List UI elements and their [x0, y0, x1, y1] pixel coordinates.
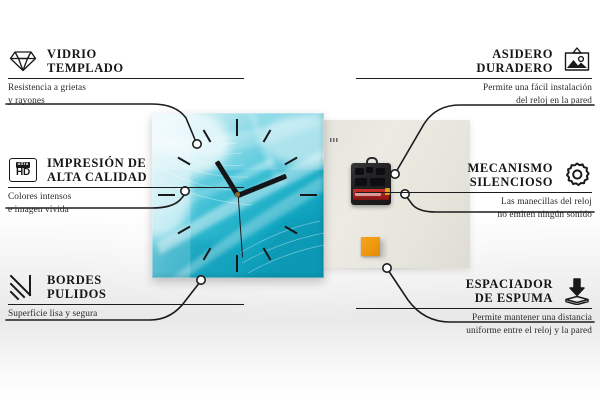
diamond-icon — [8, 46, 38, 76]
feature-title-line1: VIDRIO — [47, 47, 97, 61]
feature-title: MECANISMO SILENCIOSO — [467, 161, 553, 190]
feature-mecanismo-silencioso[interactable]: MECANISMO SILENCIOSO Las manecillas del … — [356, 160, 592, 221]
feature-desc-line1: Permite una fácil instalación — [483, 83, 592, 93]
hd-badge: ultra HD — [9, 158, 37, 182]
gear-icon — [562, 160, 592, 190]
feature-title-line1: ASIDERO — [492, 47, 553, 61]
feature-title-line2: DURADERO — [476, 61, 553, 75]
feature-title-line1: IMPRESIÓN DE — [47, 156, 146, 170]
feature-divider — [356, 192, 592, 193]
feature-bordes-pulidos[interactable]: BORDES PULIDOS Superficie lisa y segura — [8, 272, 244, 321]
feature-divider — [8, 187, 244, 188]
feature-header: VIDRIO TEMPLADO — [8, 46, 244, 78]
feature-desc-line2: del reloj en la pared — [516, 96, 592, 106]
feature-title-line2: TEMPLADO — [47, 61, 124, 75]
feature-title: ESPACIADOR DE ESPUMA — [466, 277, 553, 306]
feature-title-line2: ALTA CALIDAD — [47, 170, 147, 184]
feature-desc-line1: Permite mantener una distancia — [472, 313, 592, 323]
feature-vidrio-templado[interactable]: VIDRIO TEMPLADO Resistencia a grietas y … — [8, 46, 244, 107]
feature-title-line1: ESPACIADOR — [466, 277, 553, 291]
polished-edges-icon — [8, 272, 38, 302]
feature-header: ASIDERO DURADERO — [356, 46, 592, 78]
feature-desc-line1: Las manecillas del reloj — [501, 197, 592, 207]
feature-title-line2: SILENCIOSO — [470, 175, 553, 189]
feature-title-line1: BORDES — [47, 273, 102, 287]
connector-vidrio — [6, 104, 196, 142]
connector-dot-vidrio — [193, 140, 201, 148]
ultra-hd-icon: ultra HD — [8, 155, 38, 185]
feature-title-line2: DE ESPUMA — [475, 291, 553, 305]
feature-divider — [8, 304, 244, 305]
feature-description: Superficie lisa y segura — [8, 308, 244, 320]
connector-dot-espaciador — [383, 264, 391, 272]
feature-description: Colores intensos e imagen vívida — [8, 191, 244, 216]
feature-header: BORDES PULIDOS — [8, 272, 244, 304]
feature-description: Resistencia a grietas y rayones — [8, 82, 244, 107]
feature-desc-line2: uniforme entre el reloj y la pared — [466, 326, 592, 336]
feature-header: MECANISMO SILENCIOSO — [356, 160, 592, 192]
feature-header: ESPACIADOR DE ESPUMA — [356, 276, 592, 308]
feature-desc-line1: Resistencia a grietas — [8, 83, 86, 93]
feature-asidero-duradero[interactable]: ASIDERO DURADERO Permite una fácil insta… — [356, 46, 592, 107]
feature-divider — [8, 78, 244, 79]
feature-title: BORDES PULIDOS — [47, 273, 106, 302]
feature-desc-line1: Superficie lisa y segura — [8, 309, 97, 319]
down-arrow-spacer-icon — [562, 276, 592, 306]
feature-title-line2: PULIDOS — [47, 287, 106, 301]
hanging-frame-icon — [562, 46, 592, 76]
feature-title: VIDRIO TEMPLADO — [47, 47, 124, 76]
feature-title: ASIDERO DURADERO — [476, 47, 553, 76]
feature-desc-line1: Colores intensos — [8, 192, 71, 202]
feature-desc-line2: y rayones — [8, 96, 45, 106]
feature-description: Permite una fácil instalación del reloj … — [356, 82, 592, 107]
feature-description: Las manecillas del reloj no emiten ningú… — [356, 196, 592, 221]
feature-divider — [356, 78, 592, 79]
hd-badge-main-text: HD — [16, 168, 30, 178]
feature-divider — [356, 308, 592, 309]
feature-title: IMPRESIÓN DE ALTA CALIDAD — [47, 156, 147, 185]
feature-description: Permite mantener una distancia uniforme … — [356, 312, 592, 337]
feature-header: ultra HD IMPRESIÓN DE ALTA CALIDAD — [8, 155, 244, 187]
feature-espaciador-de-espuma[interactable]: ESPACIADOR DE ESPUMA Permite mantener un… — [356, 276, 592, 337]
feature-title-line1: MECANISMO — [467, 161, 553, 175]
feature-impresion-alta-calidad[interactable]: ultra HD IMPRESIÓN DE ALTA CALIDAD Color… — [8, 155, 244, 216]
feature-desc-line2: e imagen vívida — [8, 205, 69, 215]
feature-desc-line2: no emiten ningún sonido — [498, 210, 593, 220]
